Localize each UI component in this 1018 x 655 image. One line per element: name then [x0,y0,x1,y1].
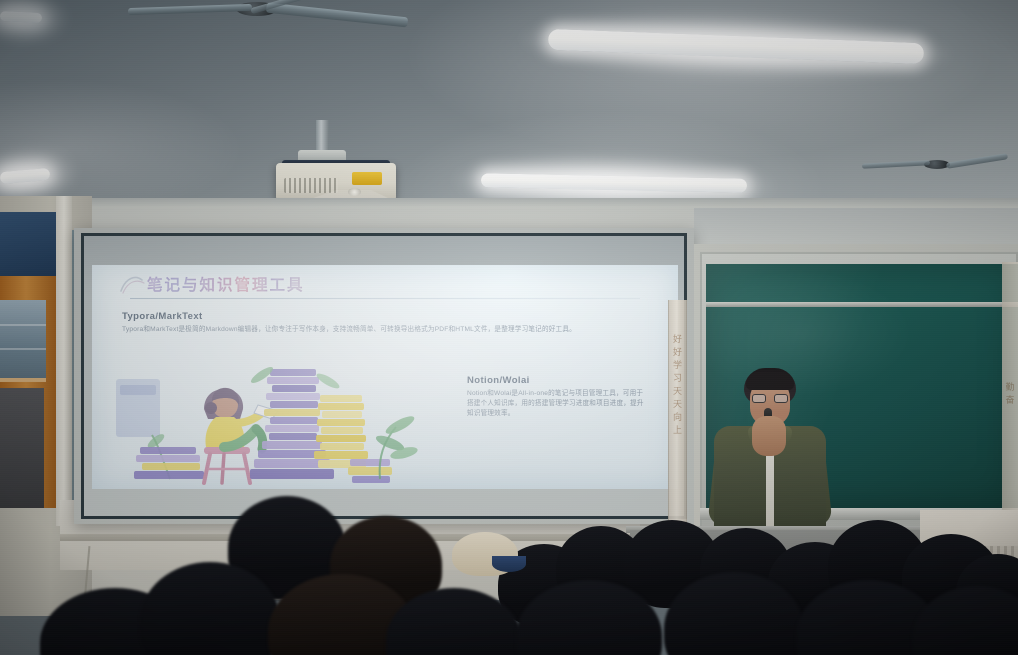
fluorescent-tube-1 [548,29,925,64]
section-body-typora: Typora和MarkText是极简的Markdown编辑器，让你专注于写作本身… [122,325,642,335]
seated-audience [0,470,1018,655]
banner-char: 勤 [1005,382,1014,395]
banner-char: 奋 [1005,395,1014,408]
glasses-icon [752,394,788,403]
banner-char: 向 [673,412,682,425]
slide-title-underline [130,298,640,299]
section-body-notion: Notion和Wolai是All-in-one的笔记与项目管理工具，可用于搭建个… [467,389,645,419]
cabinet-glass-door [0,300,46,382]
banner-char: 好 [673,334,682,347]
audience-cap-brim [492,556,526,572]
banner-char: 习 [673,373,682,386]
fluorescent-tube-4 [0,11,42,23]
presenter-fringe [746,372,794,390]
banner-char: 学 [673,360,682,373]
section-heading-typora: Typora/MarkText [122,311,203,322]
banner-char: 天 [673,399,682,412]
slide-title: 笔记与知识管理工具 [147,273,305,295]
projected-slide[interactable]: 笔记与知识管理工具 Typora/MarkText Typora和MarkTex… [92,265,678,489]
upper-wall-band [694,208,1018,248]
banner-char: 上 [673,425,682,438]
fluorescent-tube-2 [481,173,747,193]
presenter-hands [752,416,786,456]
projector-mount-pole [316,120,329,153]
classroom-photo: 笔记与知识管理工具 Typora/MarkText Typora和MarkTex… [0,0,1018,655]
fluorescent-tube-3 [0,168,50,184]
projector-vent-grille [284,178,338,193]
blue-wall-panel [0,212,62,276]
wall-top-trim [0,198,1018,208]
section-heading-notion: Notion/Wolai [467,375,530,386]
pen-squiggle-icon [118,271,148,297]
chalkboard-divider-rail [706,302,1018,307]
banner-char: 好 [673,347,682,360]
projector-label-sticker [352,172,382,185]
banner-char: 天 [673,386,682,399]
